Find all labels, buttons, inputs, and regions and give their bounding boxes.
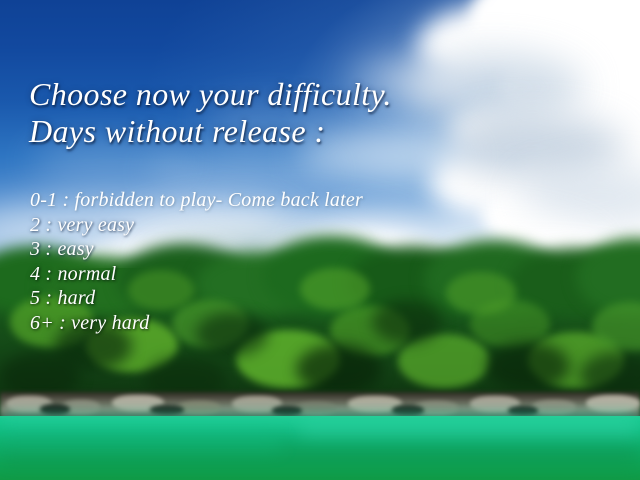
title-line-2: Days without release :: [29, 113, 392, 150]
difficulty-options-list: 0-1 : forbidden to play- Come back later…: [30, 188, 363, 336]
difficulty-option-3[interactable]: 3 : easy: [30, 237, 363, 262]
title-block: Choose now your difficulty. Days without…: [29, 76, 392, 150]
difficulty-option-2[interactable]: 2 : very easy: [30, 213, 363, 238]
difficulty-option-4[interactable]: 4 : normal: [30, 262, 363, 287]
difficulty-option-6-plus[interactable]: 6+ : very hard: [30, 311, 363, 336]
text-overlay: Choose now your difficulty. Days without…: [0, 0, 640, 480]
difficulty-option-0-1[interactable]: 0-1 : forbidden to play- Come back later: [30, 188, 363, 213]
difficulty-selection-screen: Choose now your difficulty. Days without…: [0, 0, 640, 480]
difficulty-option-5[interactable]: 5 : hard: [30, 286, 363, 311]
title-line-1: Choose now your difficulty.: [29, 76, 392, 113]
